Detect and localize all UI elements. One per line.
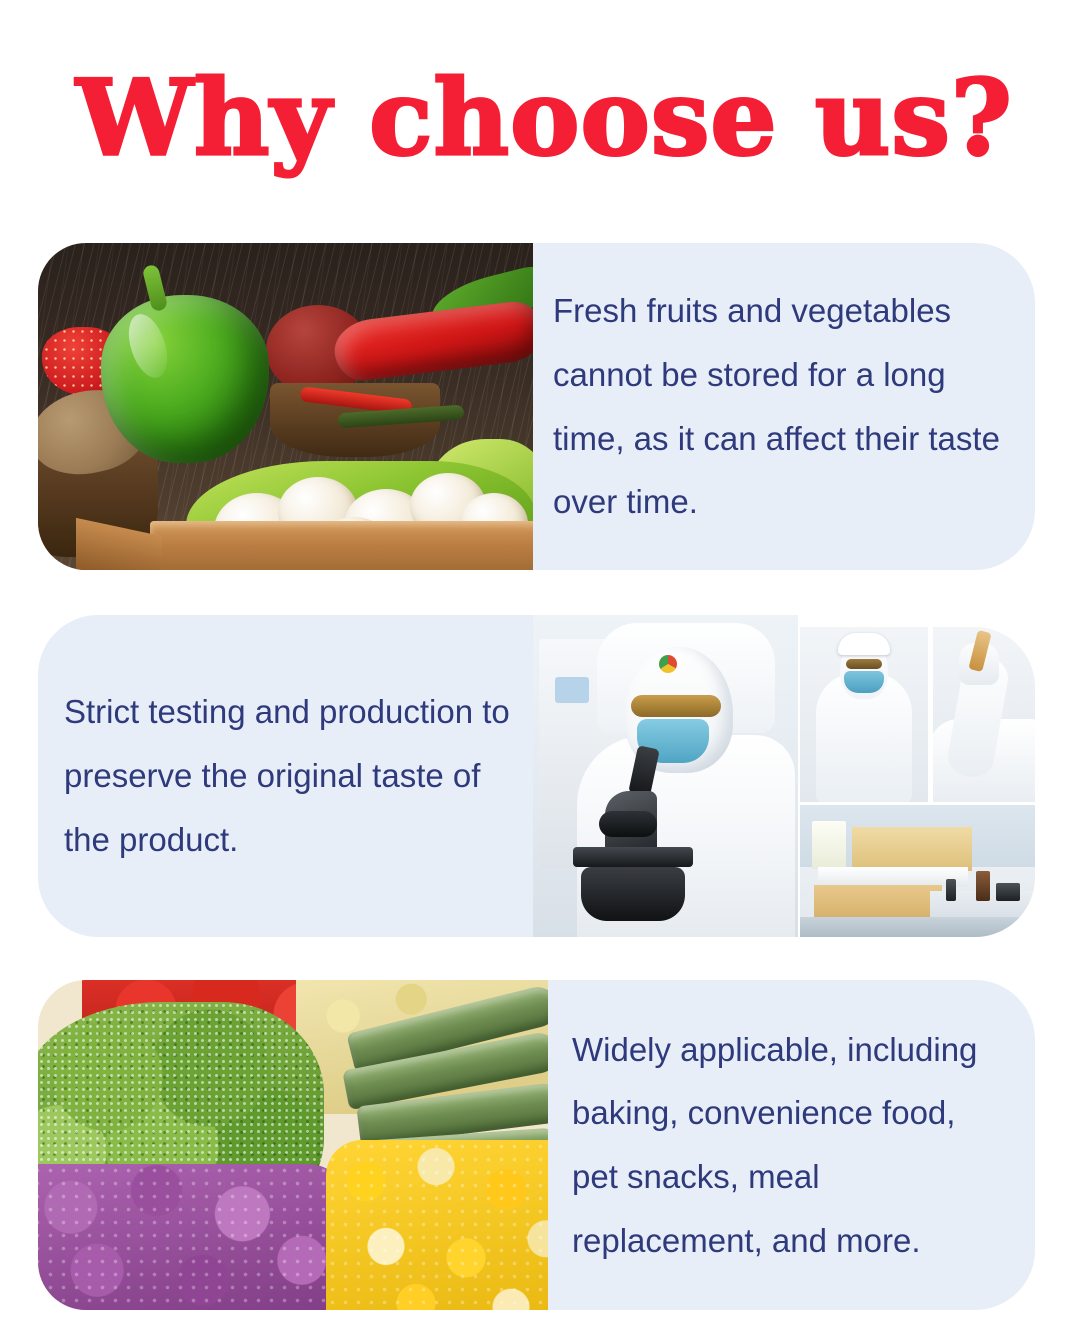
why-choose-us-poster: Why choose us? Fresh fruits and vegetabl…	[0, 0, 1089, 1320]
microscope-stage-shape	[573, 847, 693, 867]
safety-goggles-shape	[631, 695, 721, 717]
feature-text-quality-testing: Strict testing and production to preserv…	[64, 680, 513, 871]
freeze-dried-purple-sweet-potato-shape	[38, 1164, 348, 1310]
sample-handling-photo	[933, 627, 1035, 802]
feature-text-panel-applications: Widely applicable, including baking, con…	[548, 980, 1035, 1310]
microscope-base-shape	[581, 867, 685, 921]
feature-text-panel-freshness: Fresh fruits and vegetables cannot be st…	[533, 243, 1035, 570]
suit-badge-icon	[659, 655, 677, 673]
freeze-dried-corn-shape	[326, 1140, 548, 1310]
worker-goggles-shape	[846, 659, 882, 669]
worker-mask-shape	[844, 671, 884, 693]
microscope-objective-shape	[599, 811, 657, 837]
worker-cap-shape	[838, 633, 890, 655]
page-title: Why choose us?	[0, 62, 1089, 174]
wooden-crate-shape	[150, 521, 533, 570]
green-bell-pepper-shape	[101, 295, 269, 463]
fresh-vegetables-photo	[38, 243, 533, 570]
lab-cabinet-shape	[852, 827, 972, 871]
lab-interior-photo	[800, 805, 1035, 937]
lab-equipment-b-shape	[976, 871, 990, 901]
feature-text-freshness: Fresh fruits and vegetables cannot be st…	[553, 279, 1001, 534]
feature-row-freshness: Fresh fruits and vegetables cannot be st…	[38, 243, 1035, 570]
lab-worker-photo	[800, 627, 928, 802]
laboratory-testing-collage	[533, 615, 1035, 937]
scientist-microscope-photo	[533, 615, 798, 937]
feature-text-panel-quality-testing: Strict testing and production to preserv…	[38, 615, 533, 937]
lab-collage-canvas	[533, 615, 1035, 937]
freeze-dried-scene-background	[38, 980, 548, 1310]
feature-text-applications: Widely applicable, including baking, con…	[572, 1018, 1001, 1273]
freeze-dried-produce-photo	[38, 980, 548, 1310]
lab-equipment-a-shape	[946, 879, 956, 901]
lab-window-shape	[812, 821, 846, 869]
lab-equipment-c-shape	[996, 883, 1020, 901]
feature-row-quality-testing: Strict testing and production to preserv…	[38, 615, 1035, 937]
lab-floor-shape	[800, 917, 1035, 937]
feature-row-applications: Widely applicable, including baking, con…	[38, 980, 1035, 1310]
page-title-container: Why choose us?	[0, 62, 1089, 174]
